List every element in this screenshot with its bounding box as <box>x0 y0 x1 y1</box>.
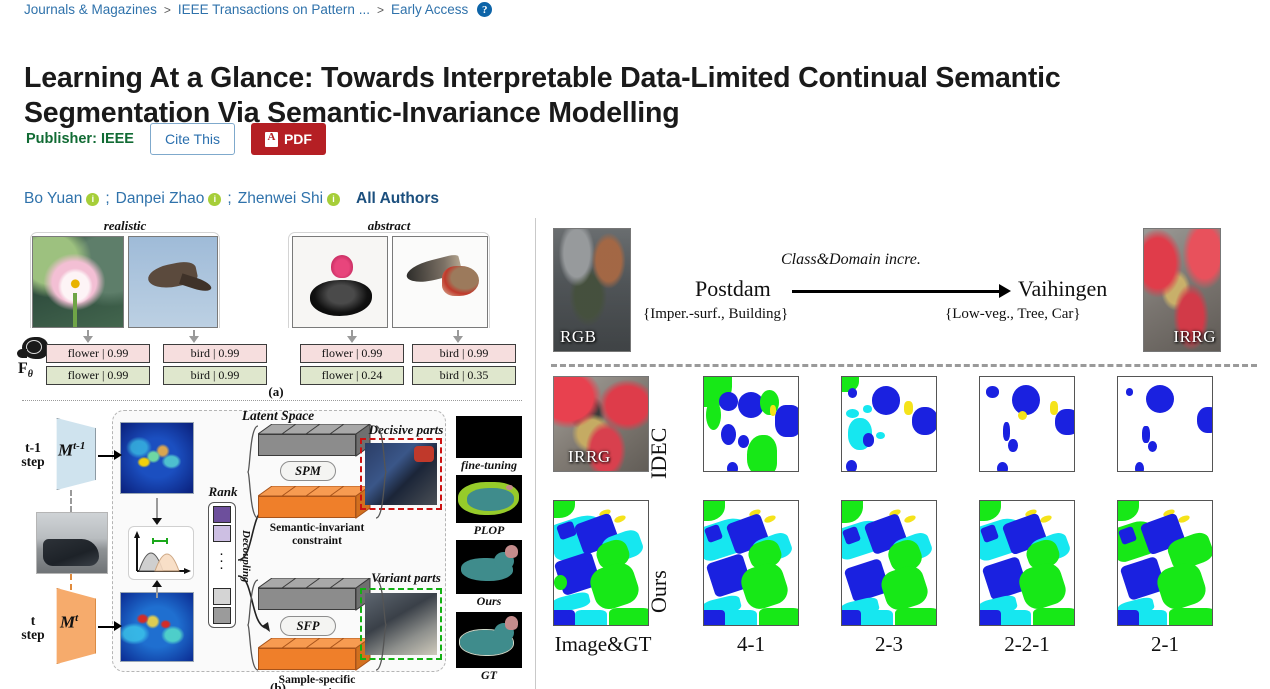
blob-building <box>721 424 736 445</box>
seg-panel-image-gt <box>553 500 649 626</box>
blob-car <box>763 514 777 524</box>
plop-blob-teal <box>467 488 515 510</box>
domain-transition-arrow-head <box>999 284 1011 298</box>
rank-cell-3 <box>213 588 231 605</box>
blob-building <box>719 392 738 411</box>
pred-model-2: bird | 0.99 <box>163 366 267 385</box>
spm-orange-bar-3d <box>258 486 374 520</box>
semantic-invariant-constraint-label: Semantic-invariant constraint <box>254 522 380 548</box>
arrow-head-1 <box>83 336 93 343</box>
variant-parts-label: Variant parts <box>356 570 456 586</box>
blob-tree <box>841 500 863 523</box>
target-classes-label: {Low-veg., Tree, Car} <box>945 306 1081 323</box>
author-separator-2: ; <box>227 190 231 208</box>
blob-building <box>986 386 999 397</box>
result-label-ours: Ours <box>452 594 526 609</box>
decisive-parts-label: Decisive parts <box>356 422 456 438</box>
blob-building <box>553 610 575 626</box>
breadcrumb-item-transactions[interactable]: IEEE Transactions on Pattern ... <box>178 2 370 17</box>
gt-blob-pink <box>505 616 518 629</box>
pred-human-2: bird | 0.99 <box>163 344 267 363</box>
pdf-button[interactable]: PDF <box>251 123 326 155</box>
aerial-rgb-image: RGB <box>553 228 631 352</box>
seg-panel-ours-2-3 <box>841 500 937 626</box>
sfp-input-bracket <box>246 578 260 674</box>
pred-human-4: bird | 0.99 <box>412 344 516 363</box>
orcid-icon-3[interactable]: i <box>327 193 340 206</box>
author-1[interactable]: Bo Yuan <box>24 190 82 208</box>
model-curr-label: Mt <box>60 612 78 633</box>
irrg-tag-top: IRRG <box>1173 327 1216 347</box>
figure-vertical-divider <box>535 218 536 689</box>
blob-building <box>1003 422 1011 441</box>
model-prev-label: Mt-1 <box>58 440 85 461</box>
model-curr-letter: M <box>60 613 75 632</box>
rank-cell-1 <box>213 506 231 523</box>
blob-lowveg <box>861 610 893 626</box>
blob-lowveg <box>725 610 757 626</box>
blob-tree <box>1016 560 1070 613</box>
arrow-head-3 <box>347 336 357 343</box>
arrow-heatmap-to-dist-head <box>152 518 162 525</box>
decisive-parts-highlight <box>414 446 434 462</box>
aerial-irrg-image-left: IRRG <box>553 376 649 472</box>
plop-blob-pink <box>506 485 513 491</box>
seg-panel-ours-4-1 <box>703 500 799 626</box>
blob-tree <box>747 435 777 472</box>
arrow-head-2 <box>189 336 199 343</box>
publisher-name: IEEE <box>101 131 134 147</box>
blob-tree <box>759 608 799 626</box>
blob-tree <box>609 608 649 626</box>
blob-lowveg <box>1139 610 1167 626</box>
semantic-constraint-line2: constraint <box>292 535 342 547</box>
result-gt-image <box>456 612 522 668</box>
arrow-heatmap-to-dist <box>156 498 158 520</box>
blob-building <box>1142 426 1150 443</box>
blob-lowveg <box>1001 610 1031 626</box>
pred-human-3: flower | 0.99 <box>300 344 404 363</box>
blob-building <box>1008 439 1017 452</box>
blob-lowveg <box>846 409 859 418</box>
arrow-curr-to-heatmap-head <box>114 621 122 631</box>
transition-label: Class&Domain incre. <box>781 251 921 269</box>
blob-building <box>997 462 1008 472</box>
figure-a-caption: (a) <box>256 384 296 400</box>
blob-tree <box>1117 500 1139 521</box>
page-title: Learning At a Glance: Towards Interpreta… <box>24 61 1244 132</box>
model-curr-sup: t <box>75 612 78 624</box>
pred-model-4: bird | 0.35 <box>412 366 516 385</box>
heatmap-prev-step <box>120 422 194 494</box>
rank-ellipsis: ··· <box>219 550 224 571</box>
seg-panel-ours-2-2-1 <box>979 500 1075 626</box>
blob-tree <box>703 500 725 521</box>
rank-cell-4 <box>213 607 231 624</box>
blob-lowveg <box>876 432 885 440</box>
figure-area: realistic abstract Fθ flower | 0.99 b <box>0 218 1270 689</box>
pred-model-1: flower | 0.99 <box>46 366 150 385</box>
arrow-dist-from-bottom-head <box>152 580 162 587</box>
blob-building <box>1117 610 1139 626</box>
blob-tree <box>1154 560 1210 614</box>
seg-panel-ours-2-1 <box>1117 500 1213 626</box>
publisher-text: Publisher: <box>26 131 97 147</box>
page-root: Journals & Magazines > IEEE Transactions… <box>0 0 1270 689</box>
connector-photo-to-curr <box>70 574 72 590</box>
domain-transition-arrow-line <box>792 290 1000 293</box>
decisive-parts-box <box>360 438 442 510</box>
source-domain-label: Postdam <box>695 276 771 302</box>
blob-tree <box>895 608 937 626</box>
heatmap-curr-step <box>120 592 194 662</box>
blob-car <box>904 401 913 414</box>
pdf-button-label: PDF <box>284 131 312 147</box>
model-symbol-letter: F <box>18 360 28 377</box>
step-prev-line2: step <box>21 454 44 469</box>
article-actions-row: Publisher: IEEE Cite This PDF <box>26 123 326 155</box>
blob-building <box>1012 385 1040 415</box>
figure-divider-dotted <box>22 400 522 401</box>
blob-building <box>863 433 874 446</box>
sfp-output-bracket <box>374 578 388 674</box>
blob-building <box>979 610 1001 626</box>
blob-building <box>703 610 725 626</box>
blob-lowveg <box>863 405 872 413</box>
blob-car <box>903 514 917 524</box>
col-caption-image-gt: Image&GT <box>547 632 659 657</box>
arrow-dist-from-bottom <box>156 586 158 598</box>
distribution-svg <box>129 527 195 581</box>
spm-output-bracket <box>374 424 388 522</box>
col-caption-4-1: 4-1 <box>703 632 799 657</box>
target-domain-label: Vaihingen <box>1018 276 1107 302</box>
cite-this-button[interactable]: Cite This <box>150 123 235 155</box>
col-caption-2-2-1: 2-2-1 <box>979 632 1075 657</box>
breadcrumb-separator-1: > <box>164 3 171 17</box>
variant-parts-box <box>360 588 442 660</box>
blob-building <box>1135 462 1144 472</box>
model-symbol-sub: θ <box>28 369 33 380</box>
step-curr-line2: step <box>21 627 44 642</box>
pdf-file-icon <box>265 132 278 147</box>
latent-space-label: Latent Space <box>208 408 348 424</box>
blob-tree <box>979 500 1001 521</box>
result-finetuning-image <box>456 416 522 458</box>
rank-cell-2 <box>213 525 231 542</box>
blob-building <box>1148 441 1157 452</box>
ours-blob-pink <box>505 545 518 558</box>
realistic-label: realistic <box>30 218 220 234</box>
blob-building <box>727 462 738 472</box>
brain-icon <box>22 337 48 359</box>
sfp-pill: SFP <box>280 616 336 636</box>
thumb-lotus-photo <box>32 236 124 328</box>
model-symbol-F: Fθ <box>18 360 33 380</box>
arrow-head-4 <box>453 336 463 343</box>
blob-car <box>613 514 627 524</box>
thumb-ink-lotus <box>292 236 388 328</box>
step-prev-label: t-1 step <box>14 441 52 469</box>
col-caption-2-3: 2-3 <box>841 632 937 657</box>
breadcrumb-separator-2: > <box>377 3 384 17</box>
pred-model-3: flower | 0.24 <box>300 366 404 385</box>
blob-tree <box>553 500 575 518</box>
irrg-tag-left: IRRG <box>568 447 611 467</box>
author-3[interactable]: Zhenwei Shi <box>238 190 323 208</box>
thumb-ink-bird <box>392 236 488 328</box>
blob-building <box>1055 409 1075 435</box>
semantic-constraint-line1: Semantic-invariant <box>270 522 365 534</box>
blob-tree <box>706 400 721 430</box>
blob-building <box>848 388 857 397</box>
blob-lowveg <box>575 610 607 626</box>
model-prev-sup: t-1 <box>73 440 85 452</box>
all-authors-link[interactable]: All Authors <box>356 190 439 208</box>
result-label-gt: GT <box>452 668 526 683</box>
blob-building <box>912 407 937 435</box>
result-label-plop: PLOP <box>452 523 526 538</box>
col-caption-2-1: 2-1 <box>1117 632 1213 657</box>
pred-human-1: flower | 0.99 <box>46 344 150 363</box>
sfp-orange-bar-3d <box>258 638 374 672</box>
right-figure-divider <box>551 364 1257 367</box>
seg-panel-idec-2-1 <box>1117 376 1213 472</box>
result-label-finetuning: fine-tuning <box>452 458 526 473</box>
arrow-prev-to-heatmap-head <box>114 450 122 460</box>
breadcrumb-item-journals[interactable]: Journals & Magazines <box>24 2 157 17</box>
seg-panel-idec-2-3 <box>841 376 937 472</box>
blob-tree <box>878 562 931 613</box>
author-2[interactable]: Danpei Zhao <box>116 190 205 208</box>
figure-b-caption: (b) <box>258 680 298 689</box>
figure-right: RGB Class&Domain incre. Postdam Vaihinge… <box>545 218 1263 689</box>
help-icon[interactable]: ? <box>477 2 492 17</box>
input-motorcycle-photo <box>36 512 108 574</box>
step-curr-line1: t <box>31 613 36 628</box>
blob-building <box>1197 407 1213 433</box>
step-prev-line1: t-1 <box>25 440 41 455</box>
abstract-label: abstract <box>288 218 490 234</box>
blob-car <box>1018 411 1027 420</box>
rgb-tag: RGB <box>560 327 596 347</box>
blob-building <box>841 610 861 626</box>
blob-building <box>1126 388 1134 396</box>
blob-car <box>770 405 777 415</box>
row-label-idec: IDEC <box>646 419 672 479</box>
source-classes-label: {Imper.-surf., Building} <box>643 306 788 323</box>
spm-input-bracket <box>246 424 260 522</box>
result-plop-image <box>456 475 522 523</box>
blob-building <box>1146 385 1174 413</box>
blob-tree <box>1169 608 1213 626</box>
figure-left: realistic abstract Fθ flower | 0.99 b <box>8 218 530 689</box>
distribution-plot <box>128 526 194 580</box>
blob-car <box>1177 514 1191 524</box>
blob-tree <box>1033 608 1075 626</box>
model-prev-letter: M <box>58 441 73 460</box>
seg-panel-idec-4-1 <box>703 376 799 472</box>
blob-building <box>775 405 799 437</box>
orcid-icon-2[interactable]: i <box>208 193 221 206</box>
author-separator-1: ; <box>105 190 109 208</box>
seg-panel-idec-2-2-1 <box>979 376 1075 472</box>
connector-photo-to-prev <box>70 490 72 512</box>
blob-car <box>1039 514 1053 524</box>
result-ours-image <box>456 540 522 594</box>
row-label-ours: Ours <box>646 553 672 613</box>
authors-row: Bo Yuan i ; Danpei Zhao i ; Zhenwei Shi … <box>24 190 439 208</box>
blob-building <box>846 460 857 472</box>
breadcrumb-item-early-access[interactable]: Early Access <box>391 2 468 17</box>
orcid-icon-1[interactable]: i <box>86 193 99 206</box>
aerial-irrg-image-top: IRRG <box>1143 228 1221 352</box>
publisher-label: Publisher: IEEE <box>26 131 134 147</box>
breadcrumb: Journals & Magazines > IEEE Transactions… <box>24 2 492 17</box>
step-curr-label: t step <box>14 614 52 642</box>
spm-pill: SPM <box>280 461 336 481</box>
thumb-swallow-photo <box>128 236 218 328</box>
blob-building <box>872 386 900 414</box>
